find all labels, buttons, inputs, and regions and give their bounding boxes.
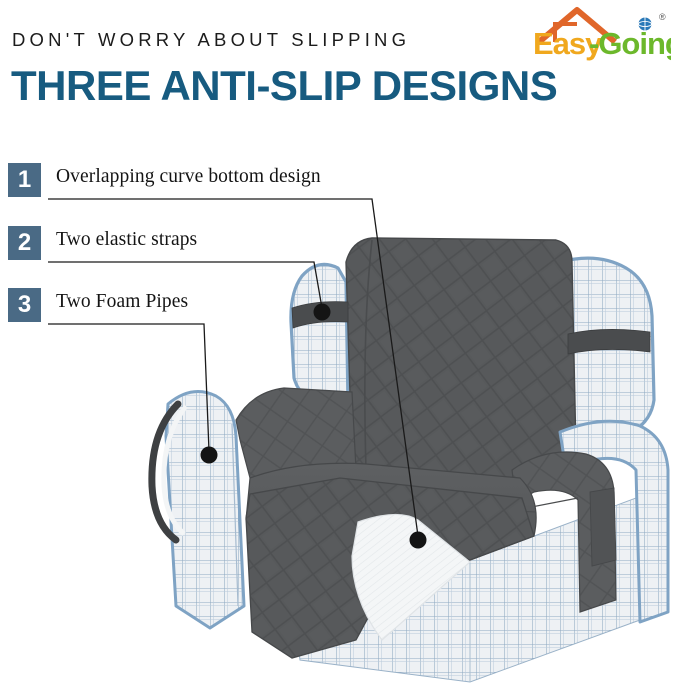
chair-backrest-left-wing — [291, 264, 348, 406]
infographic-page: Easy -Going ® DON'T WORRY ABOUT SLIPPING… — [0, 0, 679, 694]
slipcover-pocket-right — [590, 488, 616, 566]
slipcover-backrest-panel — [346, 238, 576, 492]
recliner-chair-illustration — [0, 0, 679, 694]
chair-armrest-left-upholstery — [166, 392, 244, 629]
